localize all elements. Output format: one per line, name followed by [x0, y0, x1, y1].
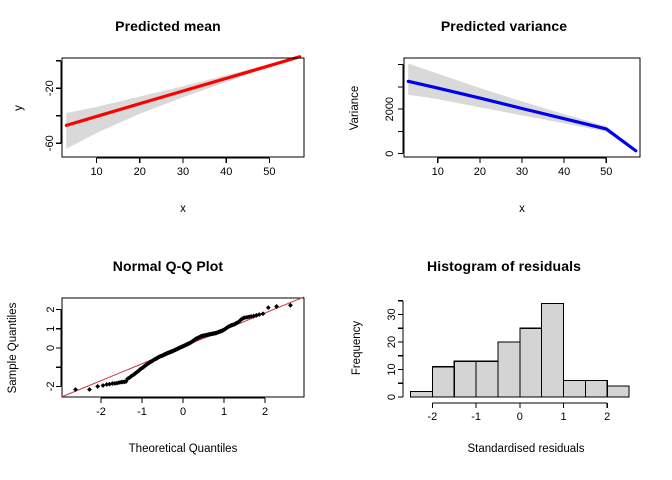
- svg-text:-20: -20: [44, 80, 56, 96]
- svg-text:0: 0: [517, 411, 523, 423]
- svg-text:10: 10: [432, 166, 444, 178]
- plot-histogram: -2-10120102030 Frequency Standardised re…: [336, 240, 672, 480]
- svg-text:0: 0: [384, 151, 396, 157]
- svg-text:30: 30: [386, 308, 398, 320]
- svg-text:40: 40: [558, 166, 570, 178]
- svg-text:-1: -1: [137, 406, 147, 418]
- svg-text:40: 40: [220, 166, 232, 178]
- y-axis-label: Variance: [349, 86, 361, 131]
- svg-text:-2: -2: [45, 382, 57, 392]
- svg-text:0: 0: [45, 345, 57, 351]
- svg-text:30: 30: [516, 166, 528, 178]
- svg-text:-2: -2: [428, 411, 438, 423]
- panel-normal-qq-plot: Normal Q-Q Plot -2-1012-2012 Sample Quan…: [0, 240, 336, 480]
- svg-text:10: 10: [386, 363, 398, 375]
- svg-text:0: 0: [386, 394, 398, 400]
- y-axis-label: y: [13, 105, 25, 111]
- y-axis-label: Sample Quantiles: [7, 302, 19, 393]
- mean-line: [66, 57, 299, 126]
- panel-predicted-mean: Predicted mean 1020304050-60-20 y x: [0, 0, 336, 240]
- svg-text:20: 20: [474, 166, 486, 178]
- plot-normal-qq: -2-1012-2012 Sample Quantiles Theoretica…: [0, 240, 336, 480]
- svg-text:-2: -2: [96, 406, 106, 418]
- svg-text:20: 20: [386, 336, 398, 348]
- x-axis-label: Standardised residuals: [468, 443, 585, 455]
- svg-text:20: 20: [134, 166, 146, 178]
- y-axis-label: Frequency: [351, 321, 363, 376]
- x-axis-label: x: [180, 203, 186, 215]
- svg-text:0: 0: [180, 406, 186, 418]
- svg-text:-60: -60: [44, 135, 56, 151]
- x-axis-label: Theoretical Quantiles: [129, 443, 238, 455]
- x-axis-label: x: [519, 203, 525, 215]
- svg-text:30: 30: [177, 166, 189, 178]
- svg-text:-1: -1: [471, 411, 481, 423]
- svg-text:2000: 2000: [384, 97, 396, 121]
- confidence-band-mean: [66, 57, 299, 149]
- panel-predicted-variance: Predicted variance 102030405002000 Varia…: [336, 0, 672, 240]
- svg-text:10: 10: [90, 166, 102, 178]
- svg-text:2: 2: [45, 306, 57, 312]
- svg-text:50: 50: [263, 166, 275, 178]
- histogram-bars: [411, 304, 630, 398]
- svg-text:2: 2: [262, 406, 268, 418]
- plot-predicted-mean: 1020304050-60-20 y x: [0, 0, 336, 240]
- svg-text:1: 1: [45, 326, 57, 332]
- svg-text:1: 1: [221, 406, 227, 418]
- svg-text:50: 50: [600, 166, 612, 178]
- panel-histogram-of-residuals: Histogram of residuals -2-10120102030 Fr…: [336, 240, 672, 480]
- svg-text:1: 1: [560, 411, 566, 423]
- svg-text:2: 2: [604, 411, 610, 423]
- figure-canvas: Predicted mean 1020304050-60-20 y x Pred…: [0, 0, 672, 480]
- plot-predicted-variance: 102030405002000 Variance x: [336, 0, 672, 240]
